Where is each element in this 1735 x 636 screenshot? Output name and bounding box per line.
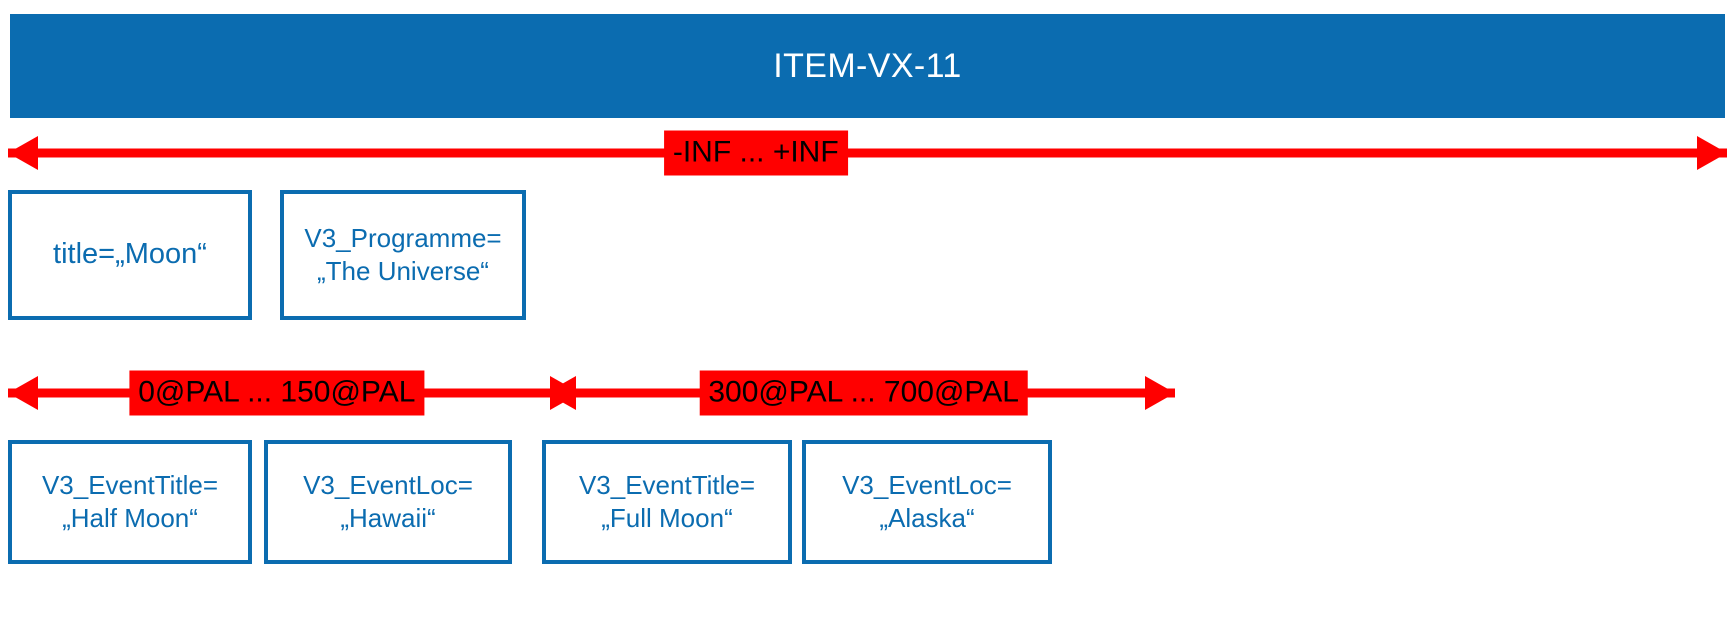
diagram-canvas: ITEM-VX-11 -INF ... +INF title=„Moon“ V3… xyxy=(0,0,1735,636)
attribute-box-event-title-2: V3_EventTitle= „Full Moon“ xyxy=(542,440,792,564)
arrow-head-right-icon xyxy=(1145,376,1175,410)
attribute-box-event-loc-1: V3_EventLoc= „Hawaii“ xyxy=(264,440,512,564)
attribute-line: V3_EventTitle= xyxy=(42,469,218,502)
arrow-head-left-icon xyxy=(8,136,38,170)
attribute-line: V3_Programme= xyxy=(304,222,501,255)
segment-1-range-arrow: 0@PAL ... 150@PAL xyxy=(8,371,580,415)
attribute-line: „Hawaii“ xyxy=(303,502,473,535)
item-header-bar: ITEM-VX-11 xyxy=(10,14,1725,118)
attribute-box-title: title=„Moon“ xyxy=(8,190,252,320)
attribute-box-event-title-1: V3_EventTitle= „Half Moon“ xyxy=(8,440,252,564)
attribute-line: V3_EventTitle= xyxy=(579,469,755,502)
attribute-line: „Full Moon“ xyxy=(579,502,755,535)
attribute-line: „Half Moon“ xyxy=(42,502,218,535)
root-range-arrow: -INF ... +INF xyxy=(8,131,1727,175)
arrow-head-left-icon xyxy=(8,376,38,410)
arrow-head-left-icon xyxy=(546,376,576,410)
page-title: ITEM-VX-11 xyxy=(773,47,962,86)
attribute-box-event-loc-2: V3_EventLoc= „Alaska“ xyxy=(802,440,1052,564)
attribute-line: „Alaska“ xyxy=(842,502,1012,535)
attribute-line: V3_EventLoc= xyxy=(303,469,473,502)
attribute-line: V3_EventLoc= xyxy=(842,469,1012,502)
segment-2-range-arrow: 300@PAL ... 700@PAL xyxy=(546,371,1175,415)
attribute-line: title=„Moon“ xyxy=(53,236,207,273)
arrow-shaft xyxy=(8,149,1727,158)
segment-1-range-label: 0@PAL ... 150@PAL xyxy=(129,371,424,416)
root-range-label: -INF ... +INF xyxy=(664,131,848,176)
segment-2-range-label: 300@PAL ... 700@PAL xyxy=(699,371,1028,416)
attribute-box-programme: V3_Programme= „The Universe“ xyxy=(280,190,526,320)
arrow-head-right-icon xyxy=(1697,136,1727,170)
attribute-line: „The Universe“ xyxy=(304,255,501,288)
